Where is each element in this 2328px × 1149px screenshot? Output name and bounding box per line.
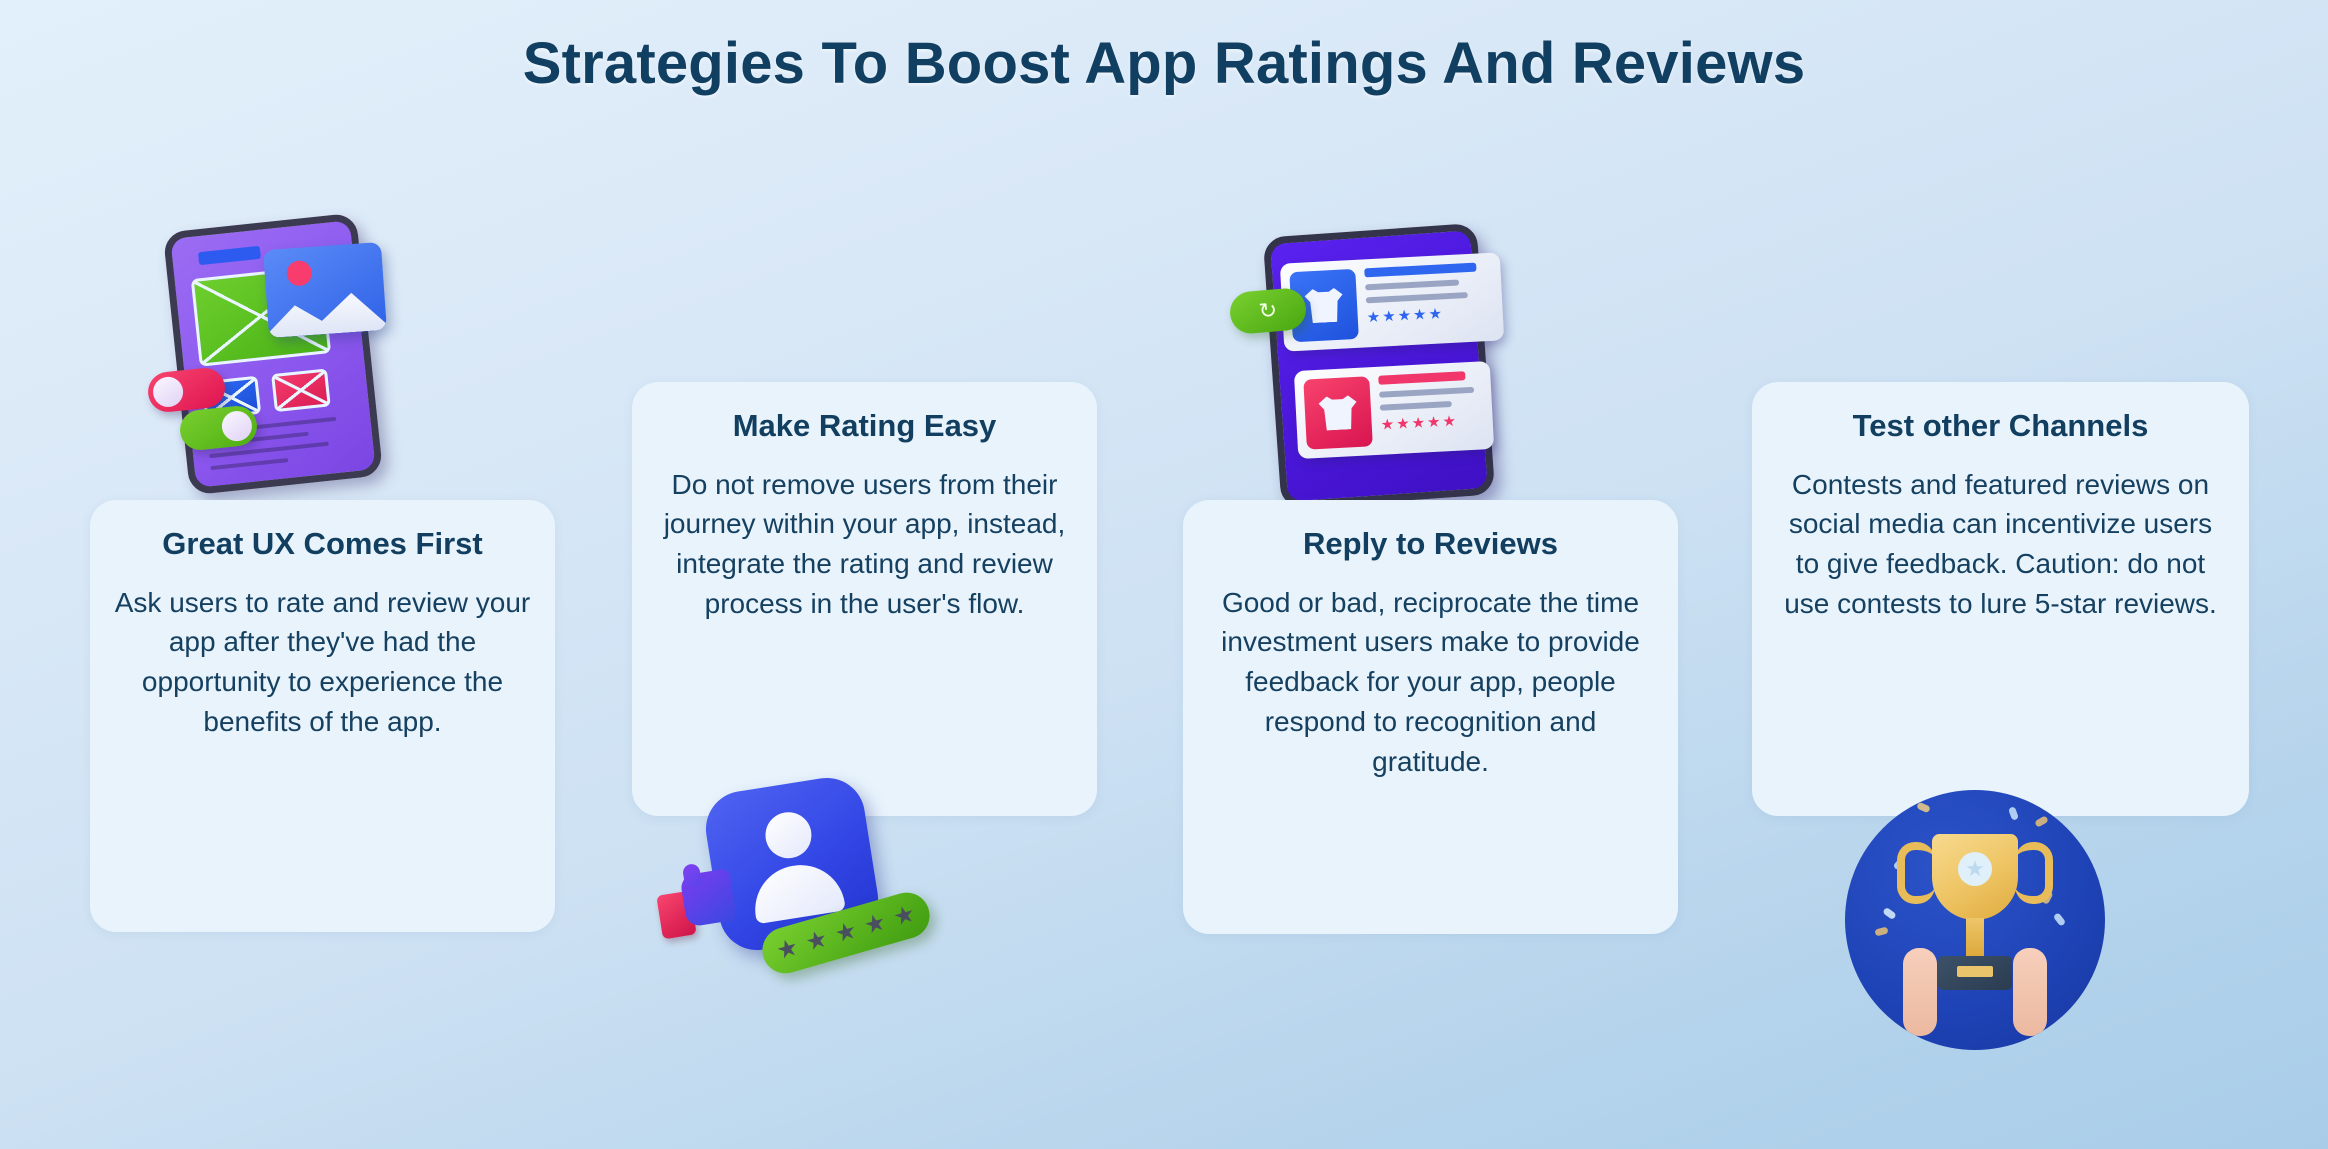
confetti-piece: [1916, 802, 1931, 814]
confetti-piece: [2034, 815, 2049, 828]
star-icon: ★: [774, 935, 801, 964]
toggle-knob: [152, 375, 185, 408]
trophy-nameplate: [1957, 966, 1993, 977]
card-test-other-channels: Test other Channels Contests and feature…: [1752, 382, 2249, 816]
trophy-stem: [1966, 918, 1984, 956]
trophy-handle-right: [2015, 842, 2053, 904]
tablet-product-reviews-illustration: ★★★★★ ★★★★★ ↻: [1230, 228, 1520, 498]
trophy-circle-background: ★: [1845, 790, 2105, 1050]
card-body: Do not remove users from their journey w…: [654, 465, 1075, 624]
card-title: Make Rating Easy: [654, 408, 1075, 445]
long-sleeve-shirt-icon: [1303, 376, 1373, 449]
hand-left: [1903, 948, 1937, 1036]
thumbs-up-icon: [654, 869, 736, 940]
thumbs-up-avatar-stars-illustration: ★ ★ ★ ★ ★: [650, 778, 920, 1038]
phone-header-bar: [198, 246, 261, 265]
card-body: Ask users to rate and review your app af…: [112, 583, 533, 742]
infographic-canvas: Strategies To Boost App Ratings And Revi…: [0, 0, 2328, 1149]
star-icon: ★: [1958, 852, 1992, 886]
confetti-piece: [2053, 912, 2067, 927]
sun-icon: [286, 260, 313, 287]
toggle-knob: [220, 410, 253, 443]
card-body: Good or bad, reciprocate the time invest…: [1205, 583, 1656, 782]
review-stars: ★★★★★: [1366, 304, 1494, 326]
trophy-cup: ★: [1932, 834, 2018, 920]
shirt-shape: [1304, 288, 1344, 324]
review-meta: ★★★★★: [1369, 370, 1485, 446]
review-card-bottom: ★★★★★: [1294, 361, 1494, 459]
card-title: Reply to Reviews: [1205, 526, 1656, 563]
trophy-handle-left: [1897, 842, 1935, 904]
star-icon: ★: [891, 902, 918, 931]
review-meta: ★★★★★: [1355, 262, 1494, 339]
card-make-rating-easy: Make Rating Easy Do not remove users fro…: [632, 382, 1097, 816]
star-icon: ★: [803, 927, 830, 956]
shirt-shape: [1318, 395, 1358, 431]
page-title: Strategies To Boost App Ratings And Revi…: [0, 30, 2328, 97]
envelope-cross-lines: [274, 372, 327, 409]
card-title: Great UX Comes First: [112, 526, 533, 563]
review-card-top: ★★★★★: [1280, 252, 1504, 351]
review-stars: ★★★★★: [1380, 412, 1484, 432]
trophy-celebration-illustration: ★: [1845, 790, 2105, 1050]
confetti-piece: [1874, 927, 1888, 937]
star-icon: ★: [862, 910, 889, 939]
card-title: Test other Channels: [1774, 408, 2227, 445]
card-body: Contests and featured reviews on social …: [1774, 465, 2227, 624]
image-card-icon: [263, 242, 387, 338]
mountain-shape: [263, 281, 387, 338]
card-reply-to-reviews: Reply to Reviews Good or bad, reciprocat…: [1183, 500, 1678, 934]
thumb-finger: [682, 863, 702, 887]
phone-email-gallery-illustration: [148, 218, 398, 478]
avatar-head: [762, 809, 815, 862]
star-icon: ★: [832, 919, 859, 948]
card-great-ux-comes-first: Great UX Comes First Ask users to rate a…: [90, 500, 555, 932]
small-envelope-pink-icon: [271, 368, 331, 412]
confetti-piece: [1882, 907, 1897, 920]
confetti-piece: [2008, 806, 2019, 821]
hand-right: [2013, 948, 2047, 1036]
